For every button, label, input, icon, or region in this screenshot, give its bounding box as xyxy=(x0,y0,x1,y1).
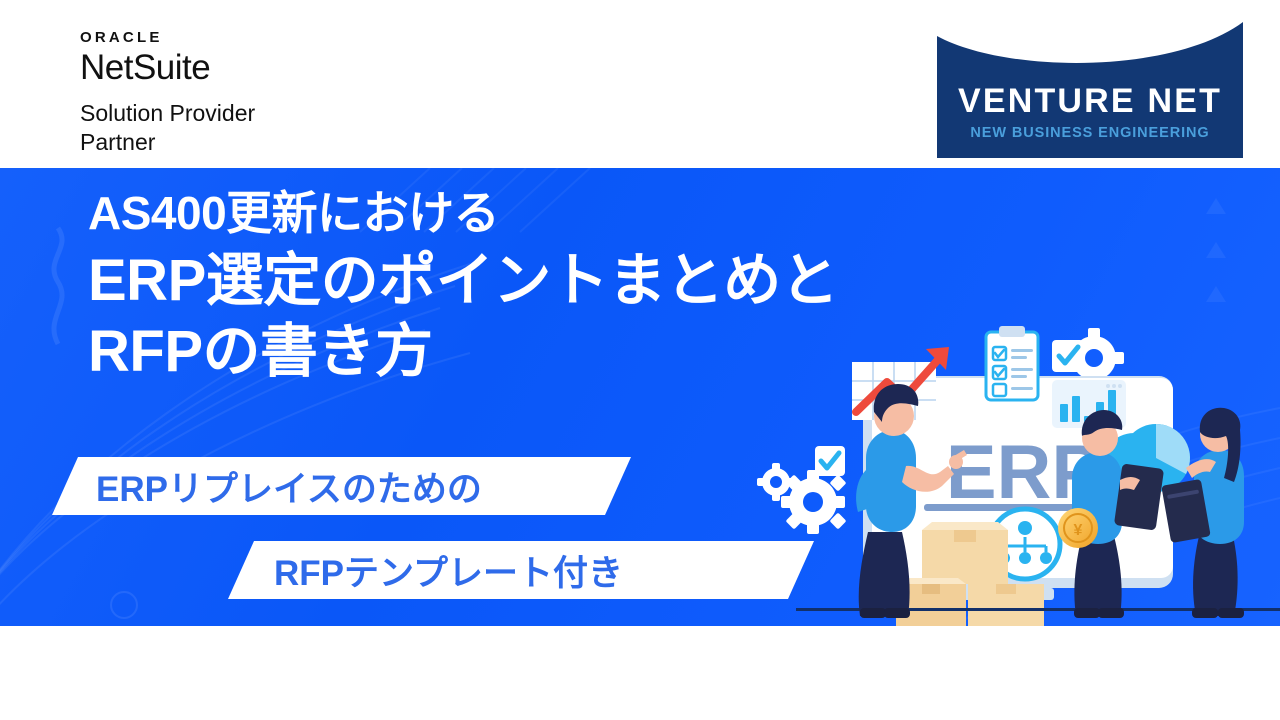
footer: WEBINAR 2024 9/6 金 11:00 − 12:00 マジ セミ xyxy=(0,626,1280,720)
svg-text:¥: ¥ xyxy=(1074,522,1083,539)
clipboard-icon xyxy=(986,326,1038,400)
check-icon-2 xyxy=(815,446,845,476)
netsuite-wordmark: NetSuite xyxy=(80,50,255,87)
venture-net-logo: VENTURE NET NEW BUSINESS ENGINEERING xyxy=(937,22,1243,158)
venture-net-name: VENTURE NET xyxy=(937,84,1243,118)
oracle-netsuite-logo: ORACLE NetSuite Solution Provider Partne… xyxy=(80,30,255,158)
oracle-wordmark: ORACLE xyxy=(80,30,255,45)
partner-role-line-2: Partner xyxy=(80,128,255,157)
partner-role-line-1: Solution Provider xyxy=(80,99,255,128)
ribbon-rfp-template: RFPテンプレート付き xyxy=(228,541,814,599)
webinar-banner: ORACLE NetSuite Solution Provider Partne… xyxy=(0,0,1280,720)
venture-net-tagline: NEW BUSINESS ENGINEERING xyxy=(937,126,1243,141)
title-line-1: AS400更新における xyxy=(88,190,988,236)
header: ORACLE NetSuite Solution Provider Partne… xyxy=(0,0,1280,168)
ribbon-erp-replace: ERPリプレイスのための xyxy=(52,457,631,515)
erp-illustration: ERP xyxy=(756,320,1280,626)
title-line-2: ERP選定のポイントまとめと xyxy=(88,250,988,311)
check-icon xyxy=(1052,340,1084,372)
squiggle-decoration xyxy=(38,226,78,346)
